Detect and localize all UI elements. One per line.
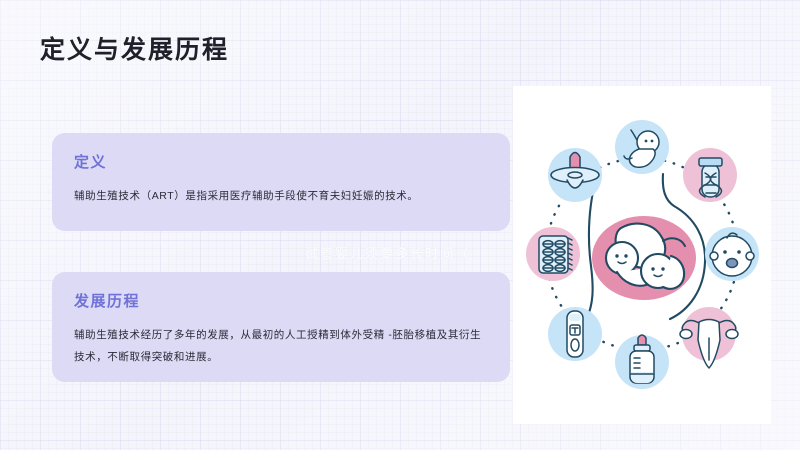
card-history-body: 辅助生殖技术经历了多年的发展，从最初的人工授精到体外受精 -胚胎移植及其衍生技术…	[74, 324, 488, 368]
card-history-heading: 发展历程	[74, 290, 488, 311]
card-definition: 定义 辅助生殖技术（ART）是指采用医疗辅助手段使不育夫妇妊娠的技术。	[52, 133, 510, 231]
pill-blister-icon	[526, 227, 580, 281]
baby-bottle-icon	[615, 335, 669, 389]
dna-test-tube-icon	[683, 148, 737, 202]
card-definition-body: 辅助生殖技术（ART）是指采用医疗辅助手段使不育夫妇妊娠的技术。	[74, 185, 488, 207]
page-title: 定义与发展历程	[40, 30, 229, 66]
watermark-text: 试管婴儿须要多长时间（	[305, 243, 470, 262]
card-definition-heading: 定义	[74, 151, 488, 172]
baby-face-icon	[705, 227, 759, 281]
illustration-panel: .ol { fill:none; stroke:#214a63; stroke-…	[513, 86, 771, 424]
slide-canvas: 定义与发展历程 定义 辅助生殖技术（ART）是指采用医疗辅助手段使不育夫妇妊娠的…	[0, 0, 800, 450]
fetus-icon	[615, 120, 669, 174]
card-history: 发展历程 辅助生殖技术经历了多年的发展，从最初的人工授精到体外受精 -胚胎移植及…	[52, 272, 510, 382]
pregnancy-test-icon	[548, 307, 602, 361]
assisted-reproduction-illustration: .ol { fill:none; stroke:#214a63; stroke-…	[513, 86, 771, 424]
pacifier-icon	[548, 148, 602, 202]
